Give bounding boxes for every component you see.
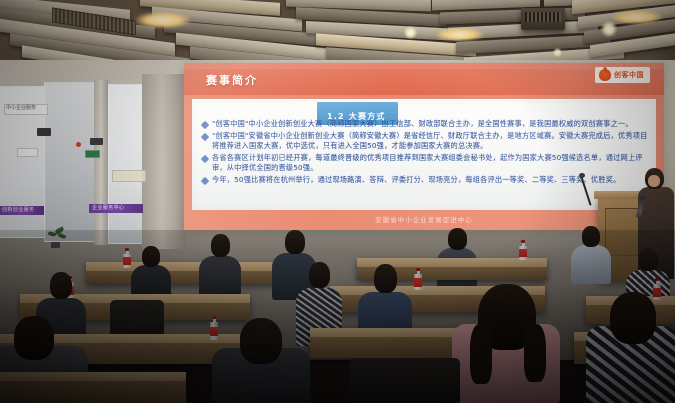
ceiling-spotlight [601, 21, 617, 37]
diamond-bullet-icon [201, 132, 209, 140]
desk-row-4 [86, 262, 286, 284]
desk-panel [86, 271, 286, 284]
wall-banner-right-text: 企业服务中心 [92, 204, 124, 213]
wall-column [142, 74, 186, 249]
glass-partition-right [108, 84, 144, 244]
ceiling-light [136, 12, 190, 28]
slide-bullet-item: "创客中国"安徽省中小企业创新创业大赛（简称安徽大赛）是省经信厅、财政厅联合主办… [202, 131, 650, 152]
slide-bullet-text: 各省各赛区计划年初已经开赛，每道最终晋级的优秀项目推荐到国家大赛组委会秘书处，起… [212, 153, 650, 174]
ceiling-projector [521, 8, 565, 30]
wall-banner-left-text: 创新创业服务 [2, 206, 34, 215]
ceiling-light [612, 10, 662, 24]
wall-sign-upper [112, 170, 146, 182]
slide-footer: 安徽省中小企业发展促进中心 [184, 207, 664, 226]
ceiling-light [437, 28, 483, 41]
exit-sign [85, 150, 100, 158]
audience-member-foreground-midleft [212, 318, 310, 403]
slide-title: 赛事简介 [206, 72, 258, 88]
wall-panel-device [37, 128, 51, 136]
slide-logo: 创客中国 [595, 67, 650, 83]
slide-logo-text: 创客中国 [614, 70, 644, 80]
diamond-bullet-icon [201, 154, 209, 162]
slide-bullet-text: "创客中国"中小企业创新创业大赛（简称国家大赛）由工信部、财政部联合主办，是全国… [212, 119, 633, 130]
diamond-bullet-icon [201, 176, 209, 184]
wall-panel-device [90, 138, 103, 145]
audience-member-foreground-pink [452, 284, 560, 403]
water-bottle [123, 248, 131, 268]
audience-member [571, 226, 611, 284]
desk-surface [0, 372, 186, 381]
wall-sign-small [17, 148, 38, 157]
slide-bullet-item: 各省各赛区计划年初已经开赛，每道最终晋级的优秀项目推荐到国家大赛组委会秘书处，起… [202, 153, 650, 174]
door-frame [94, 80, 108, 245]
emergency-indicator-icon [76, 142, 81, 147]
presentation-slide: 赛事简介 创客中国 1.2 大赛方式 "创客中国"中小企业创新创业大赛（简称国家… [184, 63, 664, 230]
projector-vent [525, 12, 561, 22]
desk-panel [0, 381, 186, 403]
wall-sign-label: 中小企业服务 [6, 104, 36, 111]
water-bottle [519, 240, 527, 260]
presenter-face [648, 175, 660, 187]
desk-row-1 [0, 372, 186, 403]
diamond-bullet-icon [201, 121, 209, 129]
chair-foreground [350, 358, 460, 403]
potted-plant [46, 228, 68, 248]
maker-china-logo-icon [599, 69, 611, 81]
ceiling-spotlight [404, 26, 417, 39]
projection-screen: 赛事简介 创客中国 1.2 大赛方式 "创客中国"中小企业创新创业大赛（简称国家… [184, 63, 664, 230]
audience-member [199, 234, 241, 300]
desk-surface [86, 262, 286, 271]
audience-member-foreground-right [586, 292, 675, 403]
water-bottle [414, 268, 422, 290]
slide-bullet-text: "创客中国"安徽省中小企业创新创业大赛（简称安徽大赛）是省经信厅、财政厅联合主办… [212, 131, 650, 152]
slide-bullet-text: 今年，50强比赛将在杭州举行，通过现场路演、答辩、评委打分、现场亮分，每组各评出… [212, 175, 620, 186]
microphone-head-icon [579, 173, 585, 178]
slide-footer-text: 安徽省中小企业发展促进中心 [375, 216, 473, 224]
conference-room-photo: 中小企业服务 创新创业服务 企业服务中心 赛事简介 创客中国 1.2 大赛方式 [0, 0, 675, 403]
slide-bullet-item: "创客中国"中小企业创新创业大赛（简称国家大赛）由工信部、财政部联合主办，是全国… [202, 119, 650, 130]
glass-partition-mid [44, 82, 96, 242]
ceiling-spotlight [553, 48, 562, 57]
